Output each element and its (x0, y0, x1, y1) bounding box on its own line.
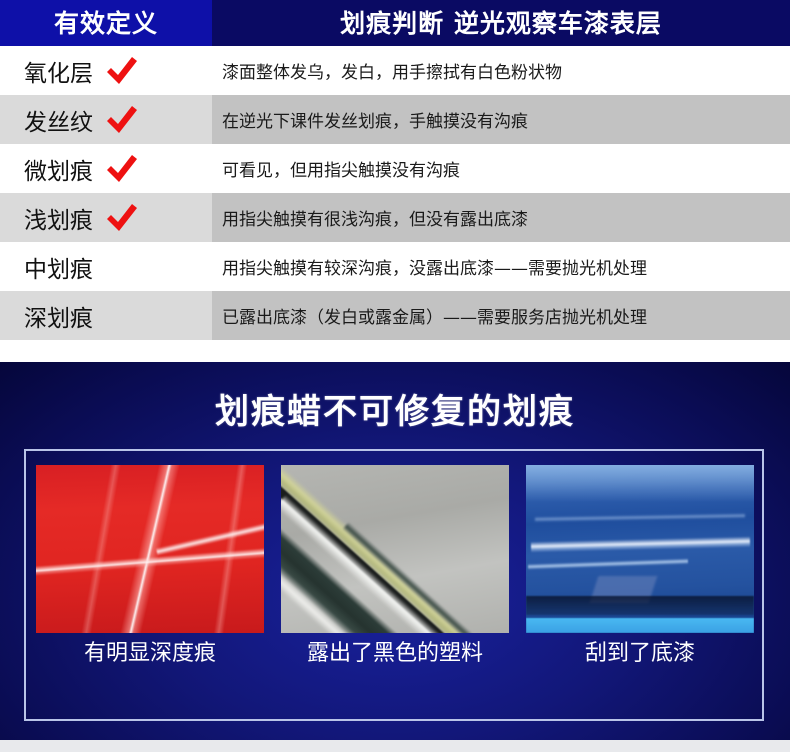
grey-panel-black-plastic-exposed-photo (281, 465, 509, 633)
unrepairable-scratches-panel: 划痕蜡不可修复的划痕 有明显深度痕 (0, 362, 790, 740)
table-row: 中划痕 用指尖触摸有较深沟痕，没露出底漆——需要抛光机处理 (0, 242, 790, 291)
bottom-strip (0, 740, 790, 752)
row-desc-cell: 用指尖触摸有很浅沟痕，但没有露出底漆 (212, 193, 790, 242)
row-desc-label: 用指尖触摸有很浅沟痕，但没有露出底漆 (222, 205, 528, 230)
row-desc-label: 在逆光下课件发丝划痕，手触摸没有沟痕 (222, 107, 528, 132)
gallery-item: 刮到了底漆 (526, 465, 754, 675)
red-check-icon (105, 56, 139, 86)
row-desc-label: 可看见，但用指尖触摸没有沟痕 (222, 156, 460, 181)
gallery-item-caption: 刮到了底漆 (526, 633, 754, 675)
gallery-item: 有明显深度痕 (36, 465, 264, 675)
row-desc-label: 已露出底漆（发白或露金属）——需要服务店抛光机处理 (222, 303, 647, 328)
photo-art-blue-scratch-1 (530, 536, 749, 552)
row-term-cell: 中划痕 (0, 242, 212, 291)
blue-paint-primer-exposed-photo (526, 465, 754, 633)
red-paint-deep-scratch-photo (36, 465, 264, 633)
table-header-row: 有效定义 划痕判断 逆光观察车漆表层 (0, 0, 790, 46)
table-row: 微划痕 可看见，但用指尖触摸没有沟痕 (0, 144, 790, 193)
row-term-cell: 发丝纹 (0, 95, 212, 144)
panel-title: 划痕蜡不可修复的划痕 (0, 384, 790, 433)
row-term-cell: 深划痕 (0, 291, 212, 340)
scratch-definition-table: 有效定义 划痕判断 逆光观察车漆表层 氧化层 漆面整体发乌，发白，用 (0, 0, 790, 358)
red-check-icon (105, 203, 139, 233)
row-desc-cell: 可看见，但用指尖触摸没有沟痕 (212, 144, 790, 193)
gallery-item: 露出了黑色的塑料 (281, 465, 509, 675)
photo-art-blue-topglow (526, 465, 754, 502)
scratch-guide-page: 有效定义 划痕判断 逆光观察车漆表层 氧化层 漆面整体发乌，发白，用 (0, 0, 790, 752)
photo-art-blue (526, 465, 754, 633)
table-header-right-cell: 划痕判断 逆光观察车漆表层 (212, 0, 790, 46)
row-desc-label: 用指尖触摸有较深沟痕，没露出底漆——需要抛光机处理 (222, 254, 647, 279)
photo-art-blue-cyanband (526, 618, 754, 633)
row-desc-cell: 已露出底漆（发白或露金属）——需要服务店抛光机处理 (212, 291, 790, 340)
row-term-cell: 浅划痕 (0, 193, 212, 242)
table-row: 发丝纹 在逆光下课件发丝划痕，手触摸没有沟痕 (0, 95, 790, 144)
row-desc-cell: 漆面整体发乌，发白，用手擦拭有白色粉状物 (212, 46, 790, 95)
row-term-label: 中划痕 (24, 250, 93, 284)
table-header-left-label: 有效定义 (54, 11, 158, 36)
table-row: 深划痕 已露出底漆（发白或露金属）——需要服务店抛光机处理 (0, 291, 790, 340)
row-desc-cell: 在逆光下课件发丝划痕，手触摸没有沟痕 (212, 95, 790, 144)
row-term-label: 氧化层 (24, 54, 93, 88)
photo-art-blue-scratch-2 (528, 558, 688, 570)
row-term-label: 微划痕 (24, 152, 93, 186)
gallery-item-caption: 露出了黑色的塑料 (281, 633, 509, 675)
row-term-label: 深划痕 (24, 299, 93, 333)
scratch-photo-gallery: 有明显深度痕 露出了黑色的塑料 (36, 465, 754, 675)
photo-art-grey (281, 465, 509, 633)
table-row: 浅划痕 用指尖触摸有很浅沟痕，但没有露出底漆 (0, 193, 790, 242)
gallery-item-caption: 有明显深度痕 (36, 633, 264, 675)
row-term-cell: 微划痕 (0, 144, 212, 193)
table-header-right-label: 划痕判断 逆光观察车漆表层 (340, 11, 662, 36)
row-term-label: 发丝纹 (24, 103, 93, 137)
photo-art-red (36, 465, 264, 633)
table-body: 氧化层 漆面整体发乌，发白，用手擦拭有白色粉状物 发丝纹 (0, 46, 790, 340)
red-check-icon (105, 154, 139, 184)
row-desc-cell: 用指尖触摸有较深沟痕，没露出底漆——需要抛光机处理 (212, 242, 790, 291)
photo-art-blue-darkband (526, 596, 754, 614)
row-term-cell: 氧化层 (0, 46, 212, 95)
red-check-icon (105, 105, 139, 135)
row-desc-label: 漆面整体发乌，发白，用手擦拭有白色粉状物 (222, 58, 562, 83)
table-row: 氧化层 漆面整体发乌，发白，用手擦拭有白色粉状物 (0, 46, 790, 95)
row-term-label: 浅划痕 (24, 201, 93, 235)
photo-art-red-highlight (155, 516, 264, 556)
photo-art-blue-scratch-3 (535, 514, 745, 523)
table-header-left-cell: 有效定义 (0, 0, 212, 46)
